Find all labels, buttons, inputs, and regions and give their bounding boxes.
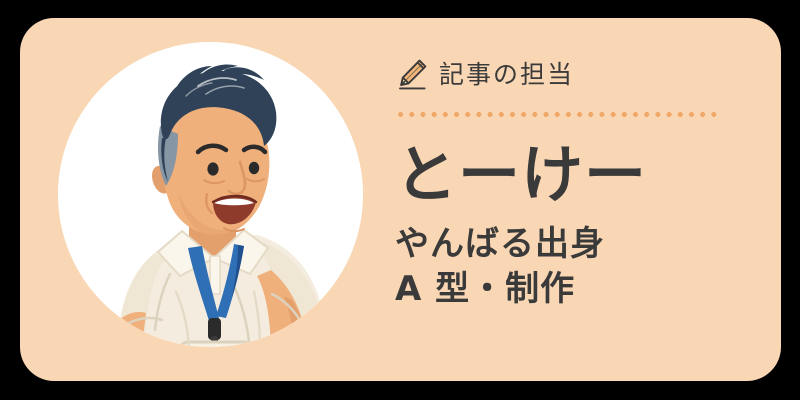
avatar	[58, 42, 363, 347]
pencil-icon	[395, 57, 429, 91]
section-header-label: 記事の担当	[439, 62, 574, 87]
author-meta-hometown: やんばる出身	[395, 222, 745, 267]
avatar-illustration	[58, 42, 363, 347]
author-meta-list: やんばる出身 A 型・制作	[395, 222, 745, 312]
screenshot-canvas: 記事の担当 とーけー やんばる出身 A 型・制作	[0, 0, 800, 400]
section-header: 記事の担当	[395, 52, 745, 96]
avatar-circle	[58, 42, 363, 347]
dotted-divider	[395, 112, 721, 117]
author-info-column: 記事の担当 とーけー やんばる出身 A 型・制作	[395, 52, 745, 312]
author-display-name: とーけー	[395, 143, 745, 206]
author-profile-card: 記事の担当 とーけー やんばる出身 A 型・制作	[20, 18, 781, 381]
author-meta-bloodtype-role: A 型・制作	[395, 267, 745, 312]
